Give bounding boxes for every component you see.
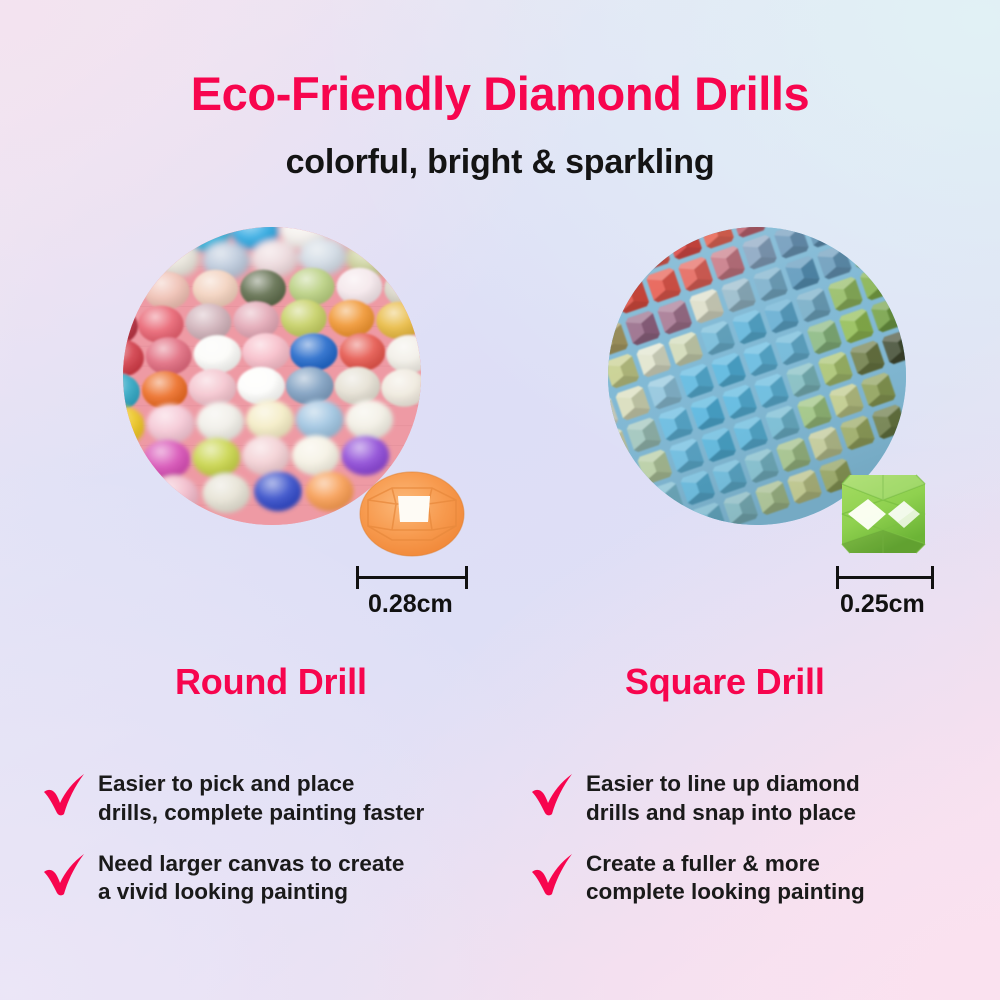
list-item: Easier to line up diamond drills and sna… [528, 770, 998, 828]
green-square-drill-art [836, 470, 930, 558]
page-subtitle: colorful, bright & sparkling [0, 143, 1000, 182]
round-drill-heading: Round Drill [175, 661, 367, 703]
round-drill-feature-list: Easier to pick and place drills, complet… [40, 770, 510, 929]
scale-bar-line [836, 576, 934, 579]
list-item: Easier to pick and place drills, complet… [40, 770, 510, 828]
square-drill-feature-list: Easier to line up diamond drills and sna… [528, 770, 998, 929]
scale-bar-cap-right [465, 566, 468, 589]
check-icon [528, 852, 578, 898]
orange-round-drill-closeup [358, 466, 466, 558]
infographic-poster: Eco-Friendly Diamond Drills colorful, br… [0, 0, 1000, 1000]
list-item: Need larger canvas to create a vivid loo… [40, 850, 510, 908]
check-icon [528, 772, 578, 818]
square-drill-heading: Square Drill [625, 661, 825, 703]
scale-bar-line [356, 576, 468, 579]
round-drill-measurement: 0.28cm [368, 590, 453, 619]
feature-text: Easier to pick and place drills, complet… [90, 770, 424, 828]
feature-text: Easier to line up diamond drills and sna… [578, 770, 860, 828]
square-drill-scale-bar [836, 566, 934, 588]
feature-text: Need larger canvas to create a vivid loo… [90, 850, 404, 908]
feature-text: Create a fuller & more complete looking … [578, 850, 865, 908]
page-title: Eco-Friendly Diamond Drills [0, 66, 1000, 121]
orange-round-drill-art [358, 466, 466, 558]
check-icon [40, 852, 90, 898]
check-icon [40, 772, 90, 818]
square-drill-measurement: 0.25cm [840, 590, 925, 619]
list-item: Create a fuller & more complete looking … [528, 850, 998, 908]
green-square-drill-closeup [836, 470, 930, 558]
round-drill-scale-bar [356, 566, 468, 588]
scale-bar-cap-right [931, 566, 934, 589]
